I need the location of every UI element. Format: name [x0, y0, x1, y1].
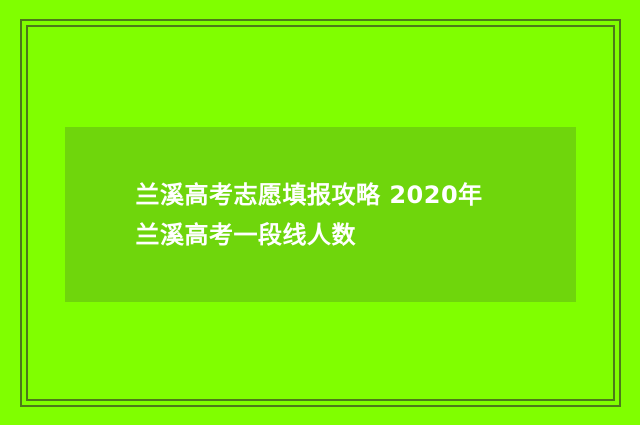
banner-image: 兰溪高考志愿填报攻略 2020年兰溪高考一段线人数 [0, 0, 640, 425]
headline-text: 兰溪高考志愿填报攻略 2020年兰溪高考一段线人数 [136, 175, 506, 255]
headline-panel: 兰溪高考志愿填报攻略 2020年兰溪高考一段线人数 [65, 127, 576, 302]
